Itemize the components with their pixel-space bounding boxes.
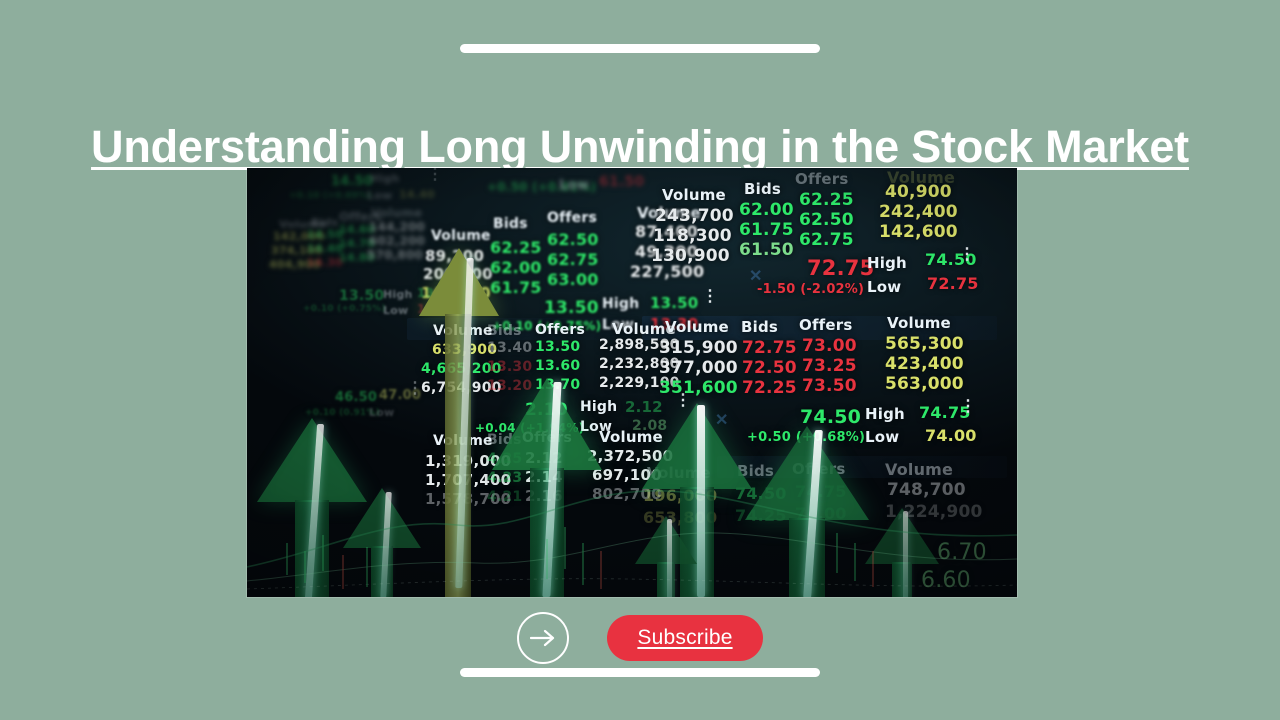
fl-r2-c1: 14.30: [307, 256, 343, 269]
tl-r2-c2: 63.00: [547, 270, 599, 289]
mr-h-offers: Offers: [799, 316, 853, 334]
tl-menu-dots-icon[interactable]: ⋮: [702, 294, 707, 299]
fl-r0-c1: 14.50: [307, 228, 343, 241]
next-arrow-button[interactable]: [517, 612, 569, 664]
tl-r1-c2: 62.75: [547, 250, 599, 269]
mr-r2-c0: 351,600: [659, 378, 738, 398]
subscribe-button[interactable]: Subscribe: [607, 615, 762, 661]
mr-r1-c3: 423,400: [885, 354, 964, 374]
fl-h-volume2: Volume: [371, 206, 422, 220]
fl-topq-last: 14.50: [331, 174, 373, 189]
fl-r1-c3: 602,200: [369, 234, 425, 248]
fl-r0-c3: 144,200: [369, 220, 425, 234]
fl-topq-high: 14.40: [399, 188, 435, 201]
mr-quote-high-label: High: [865, 405, 905, 423]
mr-r1-c0: 377,000: [659, 358, 738, 378]
mini-menu-dots-icon[interactable]: ⋮: [407, 386, 412, 391]
fl-quote-high-label: High: [383, 288, 412, 301]
mr-h-volume2: Volume: [887, 314, 951, 332]
mr-r0-c2: 73.00: [802, 336, 857, 356]
tr-quote-low: 72.75: [927, 274, 979, 293]
tr-r1-c3: 242,400: [879, 202, 958, 222]
tr-h-offers: Offers: [795, 170, 849, 188]
mr-r1-c2: 73.25: [802, 356, 857, 376]
tr-r0-c2: 62.25: [799, 190, 854, 210]
strip-low: 61.50: [599, 174, 644, 190]
tr-quote-low-label: Low: [867, 278, 901, 296]
tr-r1-c0: 118,300: [653, 226, 732, 246]
tl-h-bids: Bids: [493, 216, 528, 232]
mini-quote-last: 46.50: [335, 390, 377, 405]
tr-r2-c0: 130,900: [651, 246, 730, 266]
tr-r1-c2: 62.50: [799, 210, 854, 230]
mr-r2-c1: 72.25: [742, 378, 797, 398]
fl-r1-c1: 14.40: [307, 242, 343, 255]
fl-quote-change: +0.10 (+0.75%): [303, 304, 386, 314]
tr-r2-c3: 142,600: [879, 222, 958, 242]
mr-r0-c3: 565,300: [885, 334, 964, 354]
fl-quote-low-label: Low: [383, 304, 408, 317]
fl-r2-c3: 570,800: [367, 248, 423, 262]
tr-r1-c1: 61.75: [739, 220, 794, 240]
slide-canvas: Understanding Long Unwinding in the Stoc…: [0, 0, 1280, 720]
tl-h-volume: Volume: [431, 228, 491, 244]
strip-low-label: Low: [559, 178, 589, 193]
tr-h-bids: Bids: [744, 180, 781, 198]
tr-quote-high-label: High: [867, 254, 907, 272]
background-chart-lines: [247, 447, 1017, 597]
tr-quote-last: 72.75: [807, 256, 874, 280]
tr-r0-c1: 62.00: [739, 200, 794, 220]
ml-h-offers: Offers: [535, 322, 585, 338]
mr-quote-low-label: Low: [865, 428, 899, 446]
stock-board-image: Volume Bids Offers Volume 89,200 62.25 6…: [247, 168, 1017, 597]
fl-topq-low-label: Low: [367, 189, 392, 202]
mr-h-bids: Bids: [741, 318, 778, 336]
mini-quote-low-label: Low: [369, 406, 394, 419]
mr-r0-c0: 315,900: [659, 338, 738, 358]
mr-menu-dots-icon[interactable]: ⋮: [960, 404, 965, 409]
cta-row: Subscribe: [0, 612, 1280, 664]
tr-menu-dots-icon[interactable]: ⋮: [959, 252, 964, 257]
tl-h-offers: Offers: [547, 210, 597, 226]
tr-close-icon[interactable]: ✕: [749, 274, 754, 279]
tl-quote-last: 13.50: [544, 298, 599, 318]
mr-r1-c1: 72.50: [742, 358, 797, 378]
fl-quote-last: 13.50: [339, 288, 384, 304]
tr-h-volume: Volume: [662, 186, 726, 204]
tl-quote-high-label: High: [602, 296, 639, 312]
mr-r0-c1: 72.75: [742, 338, 797, 358]
tr-r0-c0: 243,700: [655, 206, 734, 226]
tr-r0-c3: 40,900: [885, 182, 952, 202]
fl-topq-change: +0.10 (+0.69%): [289, 191, 372, 201]
tl-r0-c2: 62.50: [547, 230, 599, 249]
arrow-right-icon: [530, 629, 556, 647]
tr-quote-change: -1.50 (-2.02%): [757, 282, 864, 297]
top-divider-bar: [460, 44, 820, 53]
mr-quote-low: 74.00: [925, 426, 977, 445]
bottom-divider-bar: [460, 668, 820, 677]
ml-r1-c2: 13.60: [535, 358, 580, 374]
tr-r2-c1: 61.50: [739, 240, 794, 260]
page-title: Understanding Long Unwinding in the Stoc…: [0, 122, 1280, 172]
fl-topq-high-label: High: [370, 172, 399, 185]
mr-r2-c3: 563,000: [885, 374, 964, 394]
fl-top-dots-icon[interactable]: ⋮: [427, 172, 432, 177]
ml-r0-c2: 13.50: [535, 339, 580, 355]
page-title-text: Understanding Long Unwinding in the Stoc…: [91, 121, 1189, 172]
mr-quote-last: 74.50: [800, 406, 861, 428]
tr-r2-c2: 62.75: [799, 230, 854, 250]
mr-r2-c2: 73.50: [802, 376, 857, 396]
tl-quote-high: 13.50: [650, 294, 698, 312]
mr-h-volume: Volume: [665, 318, 729, 336]
